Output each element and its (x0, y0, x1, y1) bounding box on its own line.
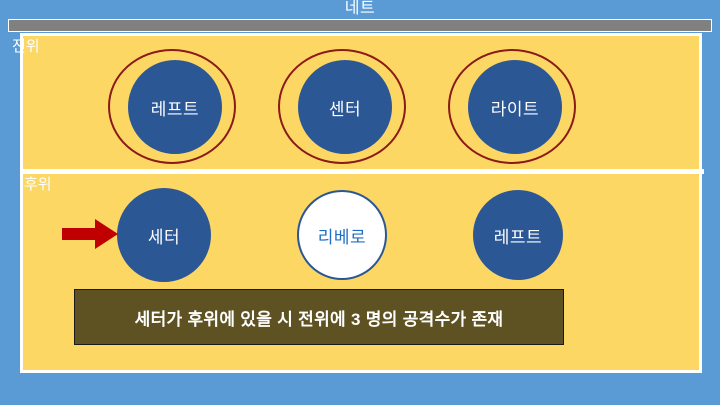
net-bar (8, 19, 712, 32)
player-label: 레프트 (494, 223, 542, 248)
volleyball-rotation-diagram: 네트 전위 후위 레프트 센터 라이트 세터 리베로 레프트 세터가 후위에 있… (0, 0, 720, 405)
player-front-left[interactable]: 레프트 (128, 60, 222, 154)
player-label: 센터 (329, 95, 361, 120)
player-label: 리베로 (318, 223, 366, 248)
zone-label-front: 전위 (12, 38, 40, 56)
net-title: 네트 (0, 0, 720, 19)
player-front-right[interactable]: 라이트 (468, 60, 562, 154)
player-label: 세터 (148, 223, 180, 248)
player-label: 라이트 (491, 95, 539, 120)
player-back-left[interactable]: 레프트 (473, 190, 563, 280)
player-back-libero[interactable]: 리베로 (297, 190, 387, 280)
caption-box: 세터가 후위에 있을 시 전위에 3 명의 공격수가 존재 (74, 289, 564, 345)
caption-text: 세터가 후위에 있을 시 전위에 3 명의 공격수가 존재 (135, 305, 504, 330)
player-front-center[interactable]: 센터 (298, 60, 392, 154)
zone-label-back: 후위 (24, 176, 52, 194)
player-label: 레프트 (151, 95, 199, 120)
attack-line (20, 169, 704, 174)
player-back-setter[interactable]: 세터 (117, 188, 211, 282)
arrow-icon (62, 219, 118, 249)
